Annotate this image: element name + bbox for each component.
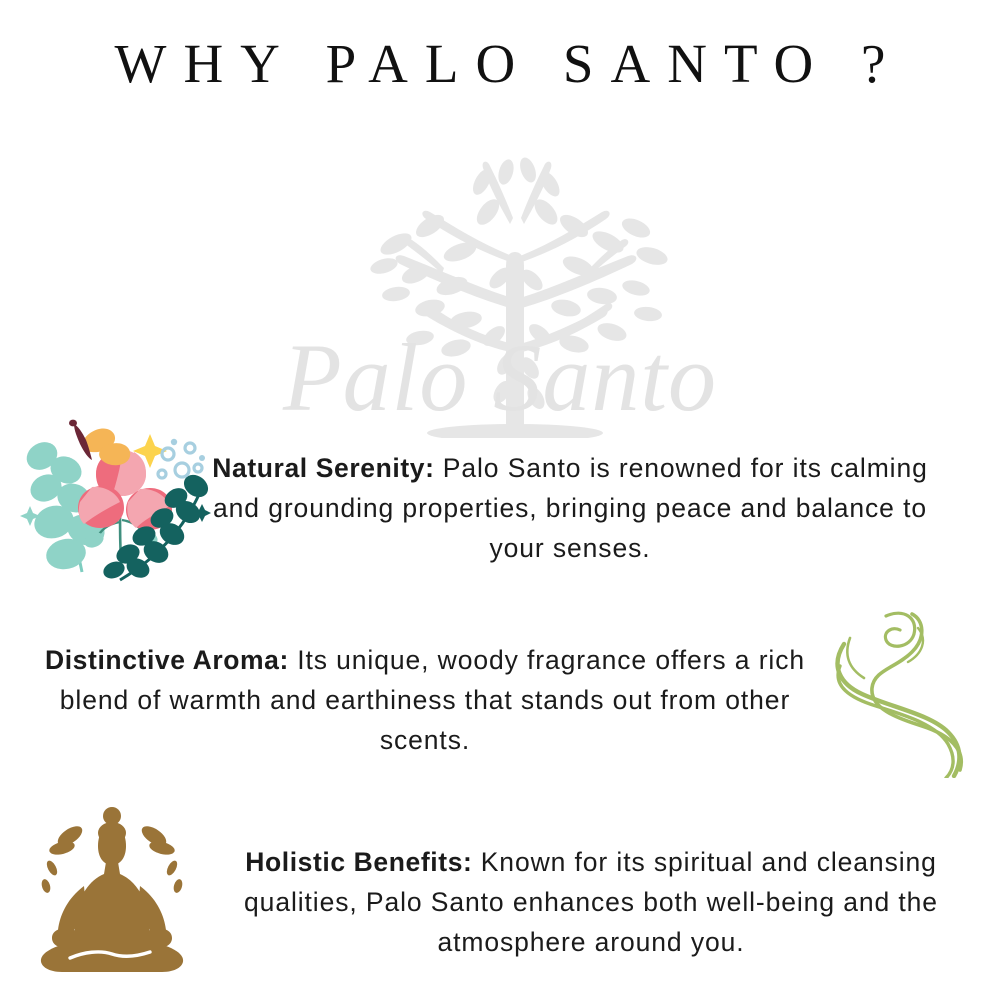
floral-botanical-icon: [16, 412, 216, 584]
benefit-text-distinctive-aroma: Distinctive Aroma: Its unique, woody fra…: [40, 640, 810, 760]
smoke-swirl-icon: [820, 598, 992, 778]
page-title: WHY PALO SANTO ?: [0, 34, 1000, 95]
butterfly-icon: [69, 420, 130, 466]
benefit-row-distinctive-aroma: Distinctive Aroma: Its unique, woody fra…: [0, 598, 1000, 788]
benefit-heading: Distinctive Aroma:: [45, 645, 289, 675]
benefit-text-holistic-benefits: Holistic Benefits: Known for its spiritu…: [196, 842, 986, 962]
benefit-text-natural-serenity: Natural Serenity: Palo Santo is renowned…: [200, 448, 940, 568]
meditation-lotus-pose-icon: [22, 802, 222, 978]
benefit-heading: Holistic Benefits:: [245, 847, 472, 877]
tree-icon: [244, 148, 790, 438]
benefit-row-holistic-benefits: Holistic Benefits: Known for its spiritu…: [0, 796, 1000, 986]
benefit-row-natural-serenity: Natural Serenity: Palo Santo is renowned…: [0, 404, 1000, 594]
benefit-heading: Natural Serenity:: [212, 453, 434, 483]
palo-santo-infographic: WHY PALO SANTO ?: [0, 0, 1000, 1000]
